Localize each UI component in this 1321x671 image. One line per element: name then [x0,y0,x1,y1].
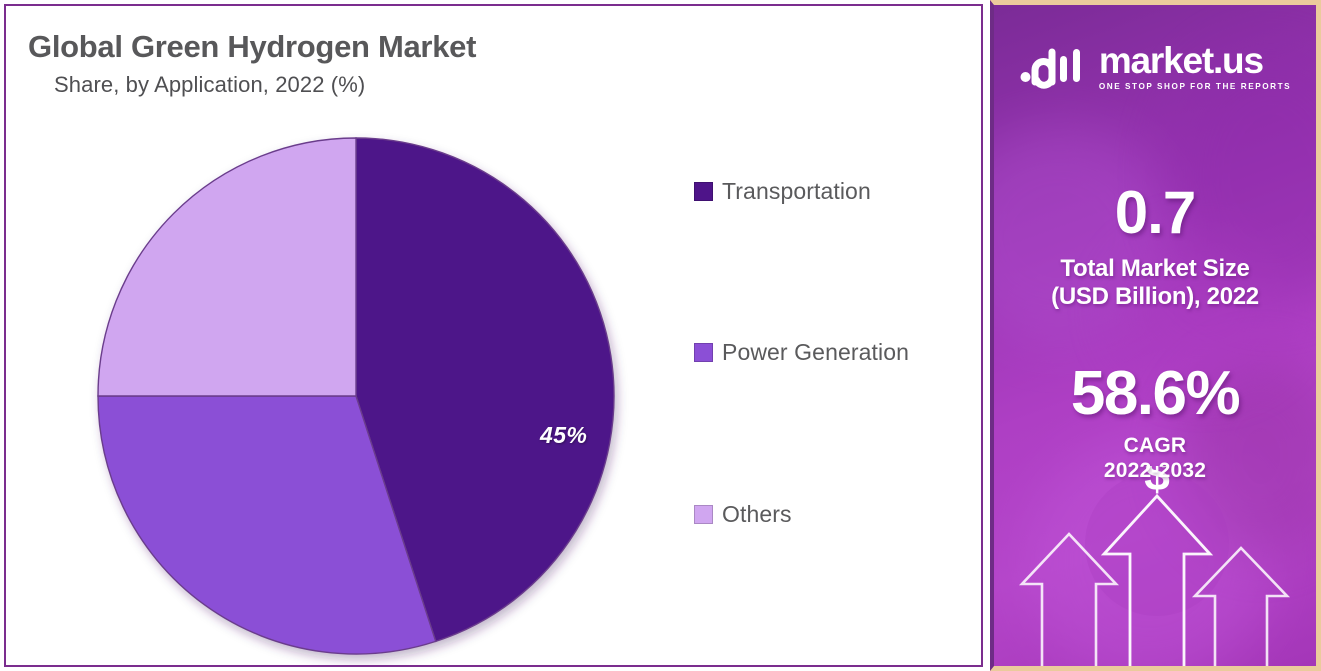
legend-swatch-transportation [694,182,713,201]
legend-label-transportation: Transportation [722,178,871,205]
cagr-caption-line1: CAGR [1124,434,1187,457]
pie-chart: 45% [66,106,646,667]
market-size-caption: Total Market Size (USD Billion), 2022 [994,255,1316,312]
logo-tagline: ONE STOP SHOP FOR THE REPORTS [1099,82,1291,91]
pie-data-label-transportation: 45% [540,422,587,449]
logo-text: market.us ONE STOP SHOP FOR THE REPORTS [1099,43,1291,91]
logo-wordmark: market.us [1099,43,1263,78]
cagr-caption-line2: 2022-2032 [994,459,1316,484]
chart-panel: Global Green Hydrogen Market Share, by A… [4,4,983,667]
legend-label-others: Others [722,501,792,528]
pie-slice-others[interactable] [98,138,356,396]
pie-slices [98,138,614,654]
legend-swatch-others [694,505,713,524]
market-size-caption-line1: Total Market Size [1060,255,1249,282]
market-us-logo-mark-icon [1019,44,1087,90]
legend-item-transportation[interactable]: Transportation [694,178,871,205]
market-size-caption-line2: (USD Billion), 2022 [994,283,1316,311]
market-size-stat: 0.7 Total Market Size (USD Billion), 202… [994,183,1316,312]
legend-swatch-power-generation [694,343,713,362]
infographic-root: Global Green Hydrogen Market Share, by A… [0,0,1321,671]
legend-item-others[interactable]: Others [694,501,792,528]
page-subtitle: Share, by Application, 2022 (%) [54,72,476,98]
market-us-logo[interactable]: market.us ONE STOP SHOP FOR THE REPORTS [994,43,1316,91]
market-size-value: 0.7 [994,183,1316,243]
stats-panel: $ market.us ONE STOP SHOP FOR THE REPORT… [990,0,1321,671]
pie-chart-svg [66,106,646,667]
cagr-caption: CAGR 2022-2032 [994,434,1316,484]
page-title: Global Green Hydrogen Market [28,30,476,65]
legend-label-power-generation: Power Generation [722,339,909,366]
stats-content: market.us ONE STOP SHOP FOR THE REPORTS … [994,5,1316,666]
legend-item-power-generation[interactable]: Power Generation [694,339,909,366]
chart-legend: Transportation Power Generation Others [694,6,974,665]
cagr-value: 58.6% [994,363,1316,425]
cagr-stat: 58.6% CAGR 2022-2032 [994,363,1316,484]
title-block: Global Green Hydrogen Market Share, by A… [28,30,476,98]
